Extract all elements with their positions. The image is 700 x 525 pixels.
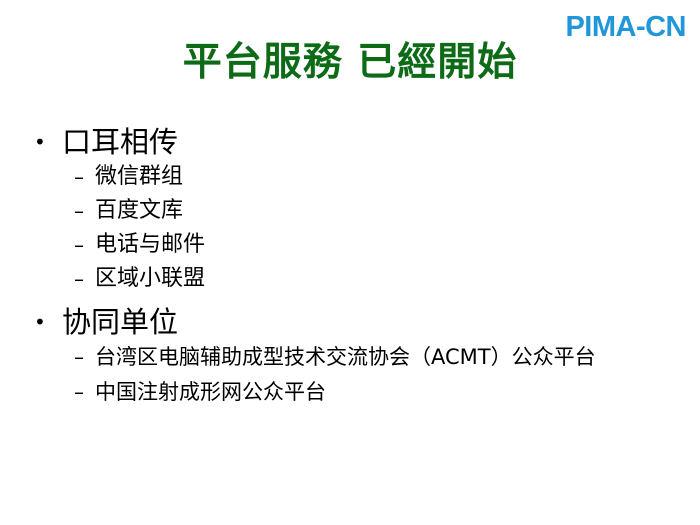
bullet-group-1: • 口耳相传 – 微信群组 – 百度文库 – 电话与邮件 – 区域小联盟 <box>0 124 700 296</box>
slide-body: • 口耳相传 – 微信群组 – 百度文库 – 电话与邮件 – 区域小联盟 <box>0 124 700 410</box>
bullet-level2-label: 区域小联盟 <box>95 262 700 296</box>
bullet-level2-label: 中国注射成形网公众平台 <box>95 375 700 410</box>
dash-bullet-icon: – <box>74 194 95 228</box>
dash-bullet-icon: – <box>74 340 95 374</box>
bullet-item-level2: – 区域小联盟 <box>0 262 700 296</box>
bullet-level2-label: 微信群组 <box>95 160 700 194</box>
bullet-level1-label: 口耳相传 <box>62 124 700 160</box>
bullet-point-icon: • <box>34 124 62 160</box>
bullet-item-level2: – 台湾区电脑辅助成型技术交流协会（ACMT）公众平台 <box>0 340 700 375</box>
bullet-level2-label: 台湾区电脑辅助成型技术交流协会（ACMT）公众平台 <box>95 340 700 375</box>
slide: PIMA-CN 平台服務 已經開始 • 口耳相传 – 微信群组 – 百度文库 –… <box>0 0 700 525</box>
bullet-level1-label: 协同单位 <box>62 304 700 340</box>
dash-bullet-icon: – <box>74 228 95 262</box>
slide-title: 平台服務 已經開始 <box>0 41 700 86</box>
bullet-item-level2: – 中国注射成形网公众平台 <box>0 375 700 410</box>
dash-bullet-icon: – <box>74 160 95 194</box>
pima-cn-logo: PIMA-CN <box>565 13 686 42</box>
bullet-level2-label: 电话与邮件 <box>95 228 700 262</box>
dash-bullet-icon: – <box>74 375 95 409</box>
bullet-level2-label: 百度文库 <box>95 194 700 228</box>
bullet-item-level1: • 口耳相传 <box>0 124 700 160</box>
dash-bullet-icon: – <box>74 262 95 296</box>
bullet-group-2: • 协同单位 – 台湾区电脑辅助成型技术交流协会（ACMT）公众平台 – 中国注… <box>0 304 700 410</box>
bullet-item-level2: – 电话与邮件 <box>0 228 700 262</box>
bullet-item-level2: – 百度文库 <box>0 194 700 228</box>
bullet-item-level2: – 微信群组 <box>0 160 700 194</box>
bullet-point-icon: • <box>34 304 62 340</box>
bullet-item-level1: • 协同单位 <box>0 304 700 340</box>
